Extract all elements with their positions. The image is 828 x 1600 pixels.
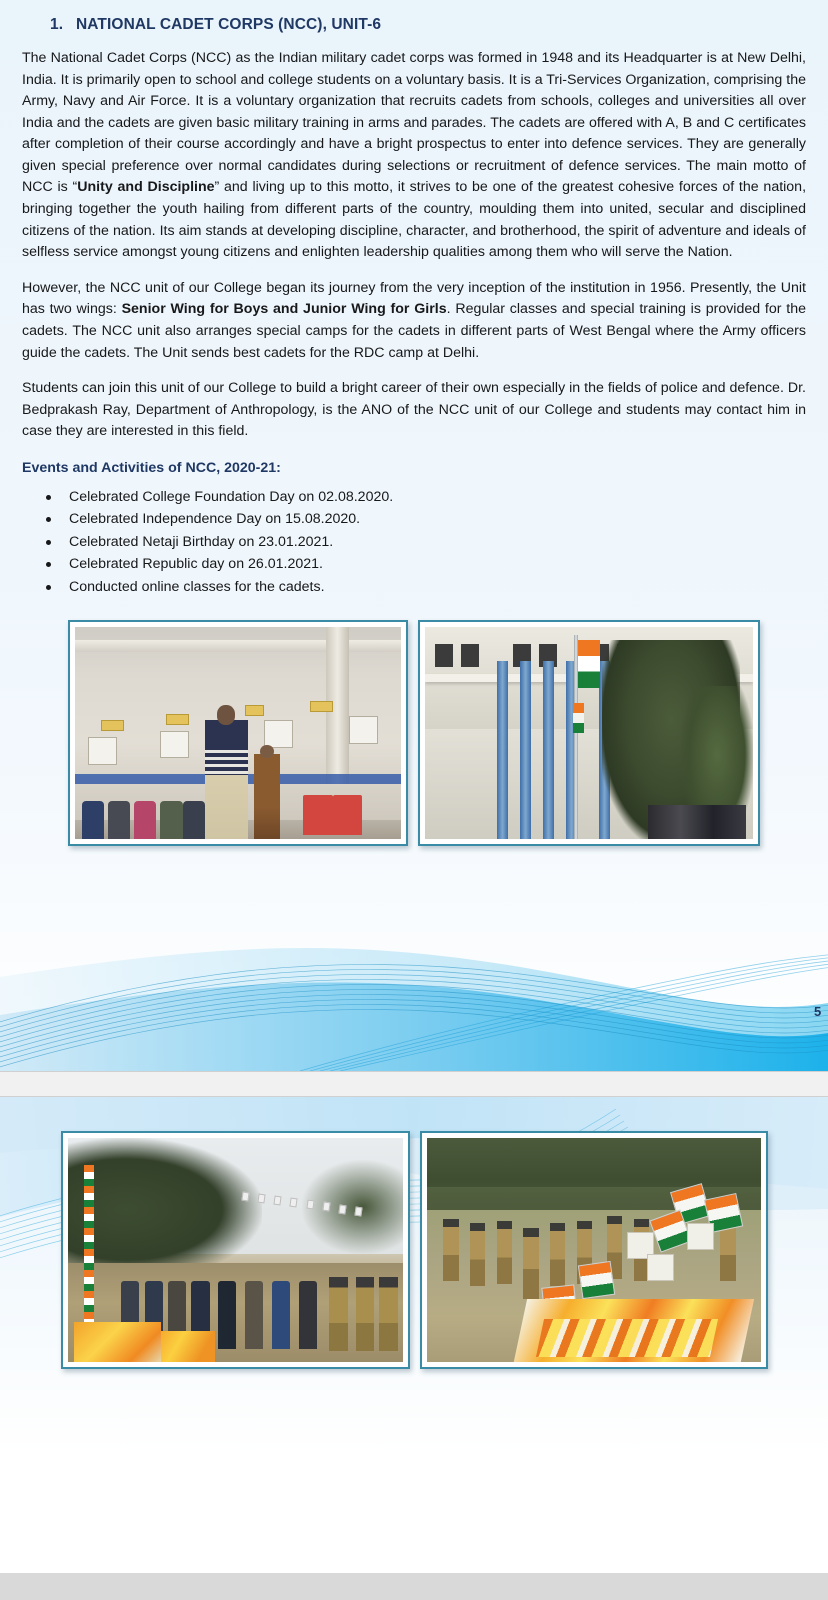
paragraph-1-segment-1: The National Cadet Corps (NCC) as the In…: [22, 50, 806, 195]
hall-window: [264, 720, 293, 748]
crowd-person: [299, 1281, 317, 1348]
indian-tricolour-flag: [578, 640, 601, 689]
crowd-silhouette: [648, 805, 746, 839]
footer-wave-decoration: [0, 941, 828, 1071]
blue-pillar: [520, 661, 531, 839]
photo-frame-outdoor-gathering: [61, 1131, 410, 1369]
hall-notice-board: [101, 720, 124, 731]
hall-window: [349, 716, 378, 744]
hall-notice-board: [245, 705, 265, 716]
cadet-in-uniform: [550, 1223, 565, 1286]
hall-chair: [303, 795, 332, 835]
crowd-person: [245, 1281, 263, 1348]
placard-board: [647, 1254, 674, 1281]
cadet-in-uniform: [443, 1219, 458, 1282]
page-title: 1. NATIONAL CADET CORPS (NCC), UNIT-6: [22, 0, 806, 34]
list-item: Conducted online classes for the cadets.: [42, 576, 806, 598]
hall-window: [88, 737, 117, 765]
blue-pillar: [543, 661, 554, 839]
hall-uniformed-guard: [254, 754, 280, 839]
hall-audience-member: [108, 801, 131, 839]
hall-chair: [333, 795, 362, 835]
hall-notice-board: [166, 714, 189, 725]
tree-cluster-left: [68, 1138, 262, 1268]
wings-bold-text: Senior Wing for Boys and Junior Wing for…: [122, 301, 447, 317]
cadet-in-uniform: [379, 1277, 398, 1351]
hall-speaker-head: [217, 705, 235, 724]
bunting-string: [242, 1187, 389, 1218]
list-item: Celebrated College Foundation Day on 02.…: [42, 486, 806, 508]
page-title-text: NATIONAL CADET CORPS (NCC), UNIT-6: [76, 16, 381, 34]
cadet-in-uniform: [356, 1277, 375, 1351]
list-item: Celebrated Republic day on 26.01.2021.: [42, 553, 806, 575]
hall-audience-member: [134, 801, 157, 839]
hall-audience-member: [160, 801, 183, 839]
photo-outdoor-gathering-bunting: [68, 1138, 403, 1362]
photo-frame-flag-hoisting: [418, 620, 760, 846]
page-title-number: 1.: [50, 16, 64, 34]
photo-college-hall-speaker: [75, 627, 401, 839]
paragraph-ncc-overview: The National Cadet Corps (NCC) as the In…: [22, 48, 806, 264]
photo-frame-college-hall: [68, 620, 408, 846]
hall-guard-head: [260, 745, 274, 759]
hall-ceiling-beam: [75, 640, 401, 653]
list-item: Celebrated Independence Day on 15.08.202…: [42, 508, 806, 530]
photo-frame-cadets-parade: [420, 1131, 768, 1369]
hall-window: [160, 731, 189, 759]
blue-pillar: [497, 661, 508, 839]
photo-row-1: [22, 620, 806, 846]
crowd-person: [272, 1281, 290, 1348]
indian-tricolour-flag: [578, 1261, 616, 1299]
photo-flag-hoisting-building: [425, 627, 753, 839]
crowd-person: [218, 1281, 236, 1348]
page-break-separator: [0, 1071, 828, 1097]
placard-board: [687, 1223, 714, 1250]
hall-speaker-jacket: [205, 750, 247, 775]
document-page-1: 5 1. NATIONAL CADET CORPS (NCC), UNIT-6 …: [0, 0, 828, 1071]
indian-tricolour-bunting: [573, 703, 584, 733]
hall-notice-board: [310, 701, 333, 712]
document-page-2: [0, 1097, 828, 1573]
paragraph-join-unit: Students can join this unit of our Colle…: [22, 378, 806, 443]
motto-bold-text: Unity and Discipline: [77, 179, 214, 195]
cadet-in-uniform: [329, 1277, 348, 1351]
cadet-in-uniform: [470, 1223, 485, 1286]
hall-audience-member: [82, 801, 105, 839]
events-subheading: Events and Activities of NCC, 2020-21:: [22, 460, 806, 476]
flower-garland-decoration: [74, 1322, 161, 1362]
list-item: Celebrated Netaji Birthday on 23.01.2021…: [42, 531, 806, 553]
paragraph-college-unit: However, the NCC unit of our College beg…: [22, 278, 806, 364]
cadet-in-uniform: [497, 1221, 512, 1284]
hall-audience-member: [183, 801, 206, 839]
photo-cadets-flags-rangoli: [427, 1138, 761, 1362]
hall-speaker-body: [205, 720, 247, 839]
floral-rangoli-pattern: [536, 1319, 718, 1357]
photo-row-2: [22, 1131, 806, 1369]
events-list: Celebrated College Foundation Day on 02.…: [22, 486, 806, 598]
cadet-in-uniform: [523, 1228, 538, 1300]
page-number: 5: [814, 1004, 824, 1019]
